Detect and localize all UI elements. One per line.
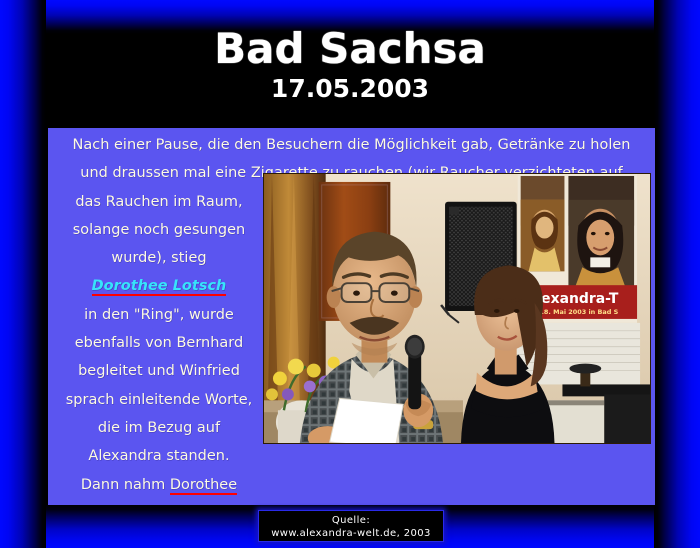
text-line-3: das Rauchen im Raum, — [48, 188, 270, 216]
dorothee-lotsch-link[interactable]: Dorothee Lotsch — [92, 278, 227, 296]
event-photograph: Alexandra-T 17./18. Mai 2003 in Bad S — [263, 173, 651, 444]
text-line-7: in den "Ring", wurde — [48, 301, 270, 329]
page-title: Bad Sachsa — [46, 26, 654, 72]
text-line-9: begleitet und Winfried — [48, 357, 270, 385]
dorothee-mention-1[interactable]: Dorothee — [170, 477, 237, 495]
text-line-12: Alexandra standen. — [48, 442, 270, 470]
text-line-1: Nach einer Pause, die den Besuchern die … — [48, 131, 655, 159]
text-line-10: sprach einleitende Worte, — [48, 386, 270, 414]
source-label: Quelle: — [259, 514, 443, 527]
source-box: Quelle: www.alexandra-welt.de, 2003 — [258, 510, 444, 542]
frame-glow-left — [0, 0, 46, 548]
text-line-8: ebenfalls von Bernhard — [48, 329, 270, 357]
text-line-6-link-wrap: Dorothee Lotsch — [48, 272, 270, 300]
text-line-5: wurde), stieg — [48, 244, 270, 272]
text-line-4: solange noch gesungen — [48, 216, 270, 244]
text-line-11: die im Bezug auf — [48, 414, 270, 442]
frame-glow-right — [654, 0, 700, 548]
page-subtitle-date: 17.05.2003 — [46, 74, 654, 104]
text-line-14: das Mikrophon und — [48, 499, 270, 505]
slide-canvas: Bad Sachsa 17.05.2003 Nach einer Pause, … — [0, 0, 700, 548]
photo-artwork: Alexandra-T 17./18. Mai 2003 in Bad S — [264, 174, 650, 443]
source-value: www.alexandra-welt.de, 2003 — [259, 527, 443, 540]
text-line-13: Dann nahm Dorothee — [48, 471, 270, 499]
text-line-13-prefix: Dann nahm — [81, 477, 170, 493]
header: Bad Sachsa 17.05.2003 — [46, 26, 654, 104]
